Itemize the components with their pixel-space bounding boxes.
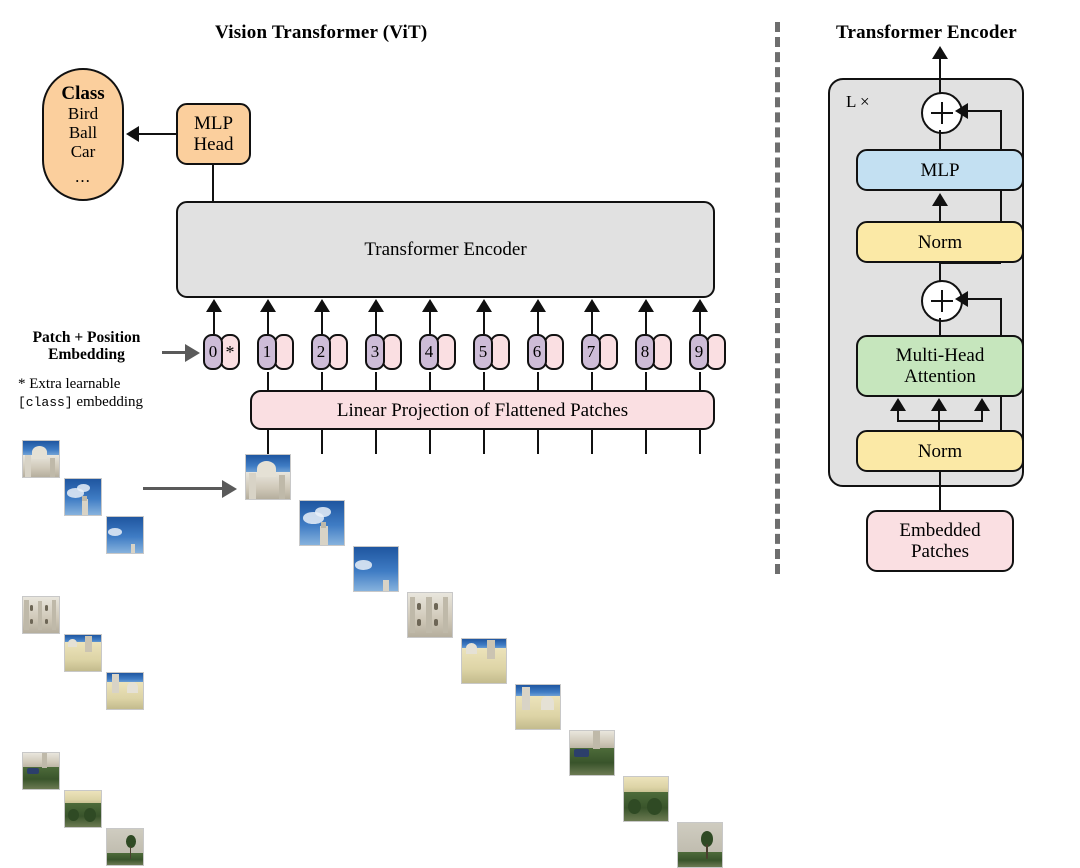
class-output-box: Class Bird Ball Car ... (42, 68, 124, 201)
patch-grid-arrowhead (222, 480, 237, 498)
token-connector (645, 312, 647, 334)
token-position-pill (706, 334, 726, 370)
sequence-patch (569, 730, 615, 776)
sequence-patch (353, 546, 399, 592)
encoder-output-arrowhead (932, 46, 948, 59)
qkv-query-line (897, 410, 899, 422)
token-arrowhead (692, 299, 708, 312)
class-item: Bird (68, 104, 98, 123)
mlp-head-to-encoder-line (212, 165, 214, 202)
mlp-head-to-class-line (138, 133, 177, 135)
transformer-encoder-box: Transformer Encoder (176, 201, 715, 298)
token-1: 1 (257, 334, 295, 372)
embedded-patches-label-line1: Embedded (899, 520, 980, 541)
residual-bottom-horizontal-in (963, 298, 1002, 300)
patch-position-arrow-line (162, 351, 186, 354)
sequence-patch (623, 776, 669, 822)
token-arrowhead (638, 299, 654, 312)
token-arrowhead (584, 299, 600, 312)
projection-connector (645, 372, 647, 392)
residual-top-arrowhead (955, 103, 968, 119)
projection-connector (267, 372, 269, 392)
token-0: *0 (203, 334, 241, 372)
qkv-value-line (981, 410, 983, 422)
token-5: 5 (473, 334, 511, 372)
token-number-pill: 1 (257, 334, 277, 370)
token-position-pill (382, 334, 402, 370)
source-patch (22, 596, 60, 634)
patch-connector (483, 430, 485, 454)
class-ellipsis: ... (75, 167, 91, 186)
token-position-pill (544, 334, 564, 370)
class-heading: Class (61, 84, 104, 104)
source-patch (64, 634, 102, 672)
attention-label-line1: Multi-Head (896, 345, 985, 366)
projection-connector (429, 372, 431, 392)
token-arrowhead (260, 299, 276, 312)
sequence-patch (515, 684, 561, 730)
projection-connector (375, 372, 377, 392)
norm-bottom-label: Norm (918, 441, 962, 462)
add-top-to-mlp-line (939, 130, 941, 151)
token-number-pill: 4 (419, 334, 439, 370)
token-position-pill (652, 334, 672, 370)
projection-connector (537, 372, 539, 392)
token-arrowhead (314, 299, 330, 312)
token-connector (375, 312, 377, 334)
attention-label-line2: Attention (904, 366, 976, 387)
token-number-pill: 6 (527, 334, 547, 370)
patch-grid-arrow-line (143, 487, 223, 490)
mlp-head-to-class-arrowhead (126, 126, 139, 142)
projection-connector (591, 372, 593, 392)
norm-top-label: Norm (918, 232, 962, 253)
token-arrowhead (476, 299, 492, 312)
add-bottom-to-attention-line (939, 318, 941, 336)
projection-connector (321, 372, 323, 392)
linear-projection-label: Linear Projection of Flattened Patches (337, 400, 628, 421)
token-connector (483, 312, 485, 334)
source-image-patch-grid (22, 440, 60, 782)
token-9: 9 (689, 334, 727, 372)
patch-connector (375, 430, 377, 454)
token-connector (213, 312, 215, 334)
sequence-patch (407, 592, 453, 638)
source-patch (106, 828, 144, 866)
norm-top-to-add-bottom-line (939, 262, 941, 281)
token-2: 2 (311, 334, 349, 372)
qkv-query-arrowhead (890, 398, 906, 411)
token-7: 7 (581, 334, 619, 372)
linear-projection-box: Linear Projection of Flattened Patches (250, 390, 715, 430)
patch-connector (429, 430, 431, 454)
class-item: Ball (69, 123, 97, 142)
token-connector (429, 312, 431, 334)
patch-connector (591, 430, 593, 454)
qkv-value-arrowhead (974, 398, 990, 411)
transformer-encoder-label: Transformer Encoder (364, 239, 526, 260)
panel-divider (775, 22, 780, 574)
patch-connector (321, 430, 323, 454)
footnote-line2-tail: embedding (73, 394, 143, 410)
token-position-pill (328, 334, 348, 370)
token-6: 6 (527, 334, 565, 372)
token-position-pill (274, 334, 294, 370)
norm-top-to-mlp-line (939, 206, 941, 222)
source-patch (106, 672, 144, 710)
patch-connector (645, 430, 647, 454)
token-arrowhead (530, 299, 546, 312)
patch-connector (267, 430, 269, 454)
token-number-pill: 3 (365, 334, 385, 370)
mlp-block: MLP (856, 149, 1024, 191)
token-number-pill: 2 (311, 334, 331, 370)
flattened-patch-sequence (0, 0, 46, 414)
projection-connector (699, 372, 701, 392)
encoder-title: Transformer Encoder (836, 22, 1017, 44)
sequence-patch (677, 822, 723, 868)
mlp-head-label-line2: Head (193, 134, 233, 155)
norm-top-block: Norm (856, 221, 1024, 263)
token-arrowhead (368, 299, 384, 312)
token-number-pill: 9 (689, 334, 709, 370)
token-connector (321, 312, 323, 334)
token-4: 4 (419, 334, 457, 372)
sequence-patch (245, 454, 291, 500)
token-arrowhead (422, 299, 438, 312)
mlp-block-label: MLP (920, 160, 959, 181)
token-number-pill: 0 (203, 334, 223, 370)
class-item: Car (71, 142, 96, 161)
add-top-to-output-line (939, 79, 941, 94)
encoder-output-line (939, 57, 941, 79)
patch-position-arrowhead (185, 344, 200, 362)
token-position-pill (490, 334, 510, 370)
token-number-pill: 7 (581, 334, 601, 370)
token-3: 3 (365, 334, 403, 372)
norm-bottom-block: Norm (856, 430, 1024, 472)
patch-connector (699, 430, 701, 454)
encoder-repeat-block (828, 78, 1024, 487)
encoder-repeat-label: L × (846, 92, 870, 111)
token-connector (591, 312, 593, 334)
embedded-patches-to-norm-line (939, 471, 941, 511)
residual-top-horizontal-in (963, 110, 1002, 112)
token-position-pill (436, 334, 456, 370)
source-patch (22, 752, 60, 790)
norm-top-to-mlp-arrowhead (932, 193, 948, 206)
patch-connector (537, 430, 539, 454)
source-patch (64, 790, 102, 828)
residual-bottom-arrowhead (955, 291, 968, 307)
sequence-patch (299, 500, 345, 546)
token-connector (267, 312, 269, 334)
token-position-pill (598, 334, 618, 370)
token-position-pill: * (220, 334, 240, 370)
sequence-patch (461, 638, 507, 684)
token-connector (699, 312, 701, 334)
token-connector (537, 312, 539, 334)
projection-connector (483, 372, 485, 392)
source-patch (22, 440, 60, 478)
source-patch (106, 516, 144, 554)
multi-head-attention-block: Multi-Head Attention (856, 335, 1024, 397)
qkv-key-arrowhead (931, 398, 947, 411)
token-arrowhead (206, 299, 222, 312)
embedded-patches-block: Embedded Patches (866, 510, 1014, 572)
mlp-head-label-line1: MLP (194, 113, 233, 134)
token-8: 8 (635, 334, 673, 372)
source-patch (64, 478, 102, 516)
embedded-patches-label-line2: Patches (911, 541, 969, 562)
vit-title: Vision Transformer (ViT) (215, 22, 427, 44)
token-number-pill: 5 (473, 334, 493, 370)
token-number-pill: 8 (635, 334, 655, 370)
mlp-head-box: MLP Head (176, 103, 251, 165)
